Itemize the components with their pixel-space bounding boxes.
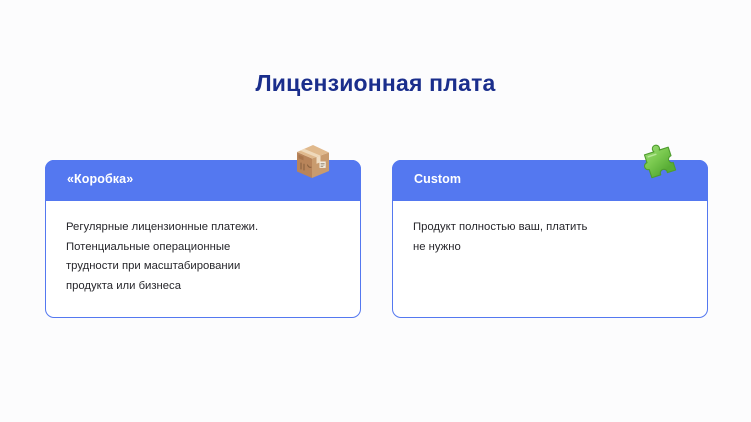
card-custom-title: Custom [414, 172, 461, 186]
card-custom[interactable]: Custom Продукт полностью ваш, платить не… [392, 160, 708, 318]
slide-canvas: Лицензионная плата «Коробка» [0, 0, 751, 422]
card-box-title: «Коробка» [67, 172, 133, 186]
page-title: Лицензионная плата [0, 68, 751, 98]
card-box[interactable]: «Коробка» [45, 160, 361, 318]
package-box-icon [291, 139, 335, 183]
card-custom-body: Продукт полностью ваш, платить не нужно [393, 202, 707, 257]
puzzle-piece-icon [636, 139, 680, 183]
card-box-body: Регулярные лицензионные платежи. Потенци… [46, 202, 360, 296]
